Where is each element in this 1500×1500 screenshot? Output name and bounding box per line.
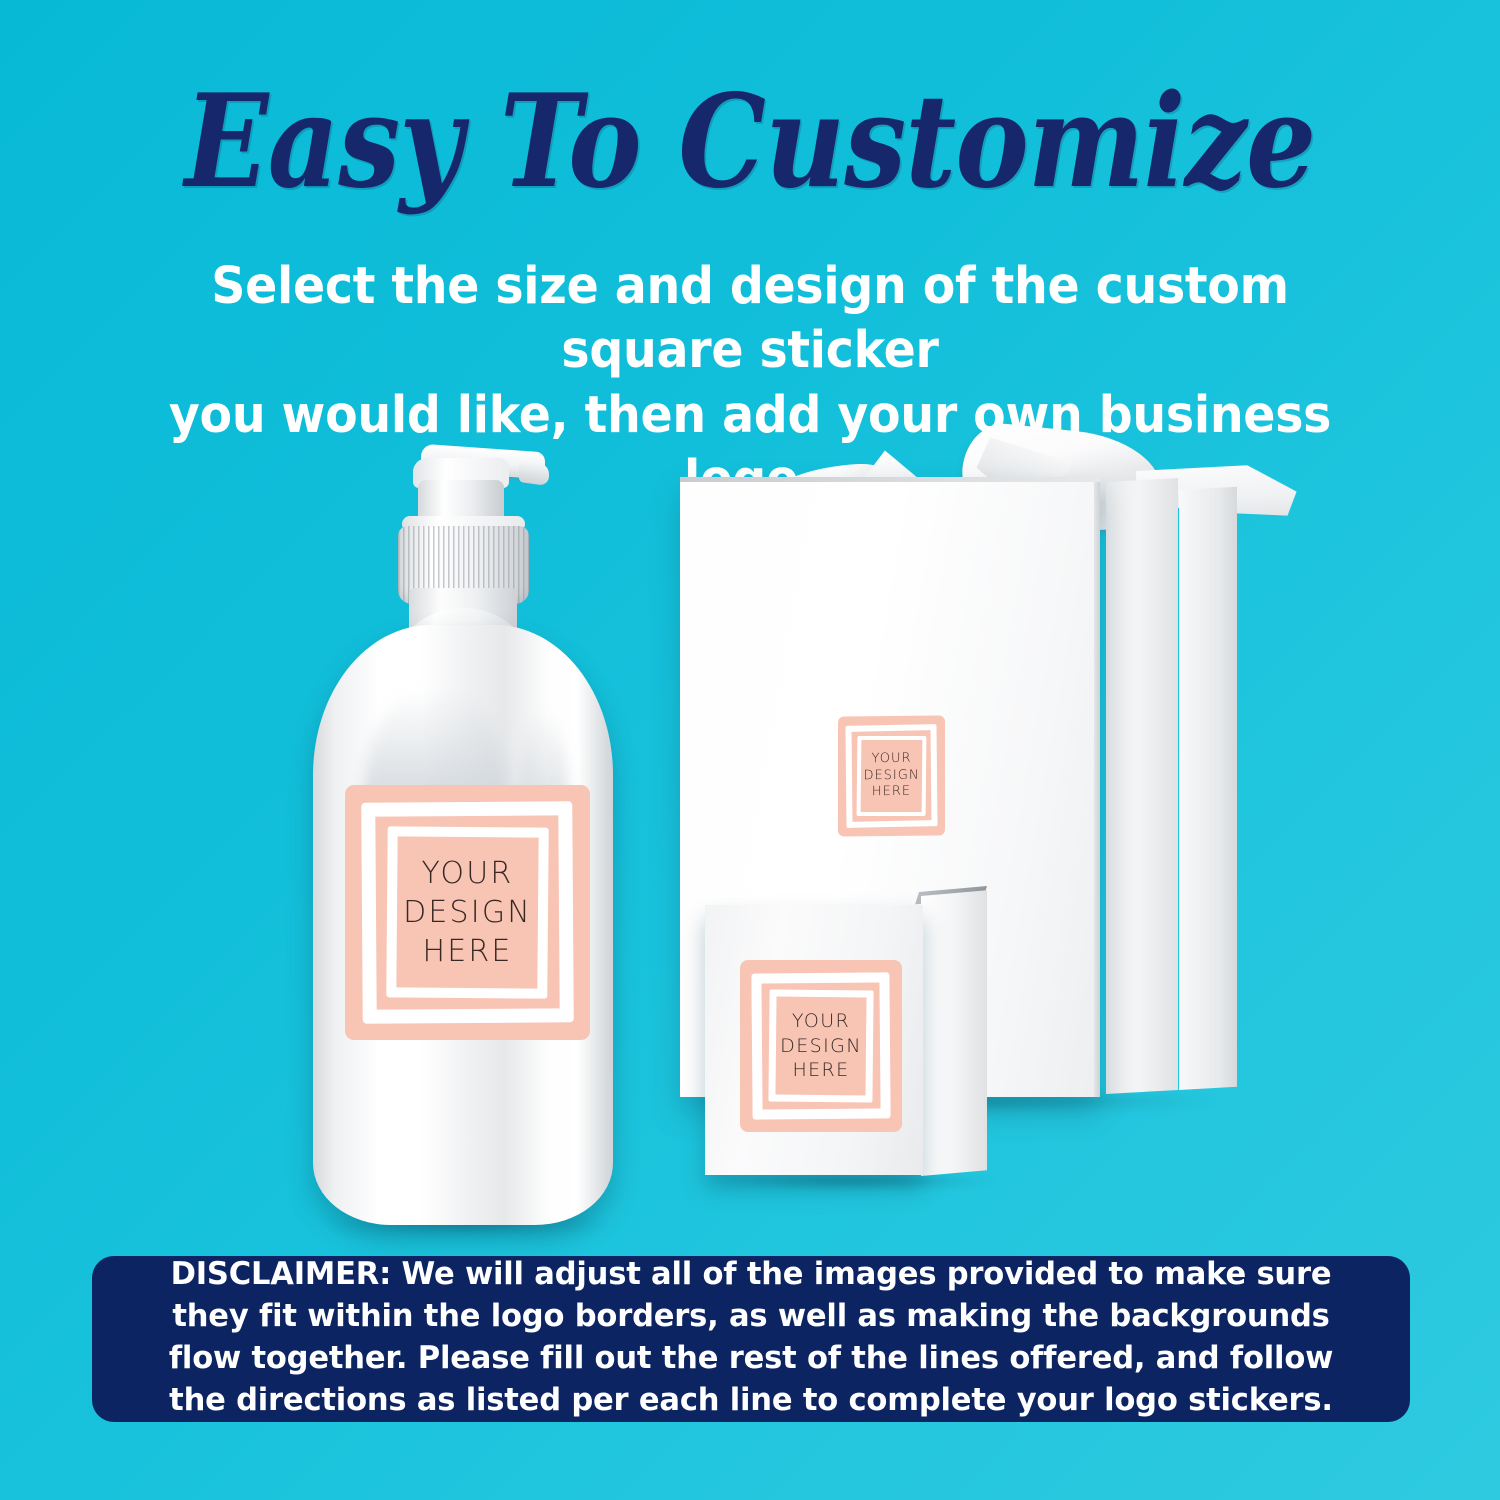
disclaimer-banner: DISCLAIMER: We will adjust all of the im… [92, 1256, 1410, 1422]
disclaimer-label: DISCLAIMER: [171, 1256, 392, 1292]
gift-box-back-panel [1179, 487, 1237, 1090]
disclaimer-text: DISCLAIMER: We will adjust all of the im… [137, 1253, 1365, 1422]
promo-graphic: Easy To Customize Select the size and de… [0, 0, 1500, 1500]
gift-box-side-panel [1106, 478, 1178, 1094]
sticker-label: YOUR DESIGN HERE [403, 854, 532, 971]
gift-box-lid-edge [680, 477, 1100, 482]
sticker-small-carton[interactable]: YOUR DESIGN HERE [740, 960, 902, 1132]
sticker-label: YOUR DESIGN HERE [780, 1009, 862, 1083]
sticker-bottle-label[interactable]: YOUR DESIGN HERE [345, 785, 590, 1040]
small-carton-side-panel [921, 890, 987, 1176]
sticker-gift-box[interactable]: YOUR DESIGN HERE [838, 715, 945, 836]
sticker-label: YOUR DESIGN HERE [863, 750, 919, 801]
